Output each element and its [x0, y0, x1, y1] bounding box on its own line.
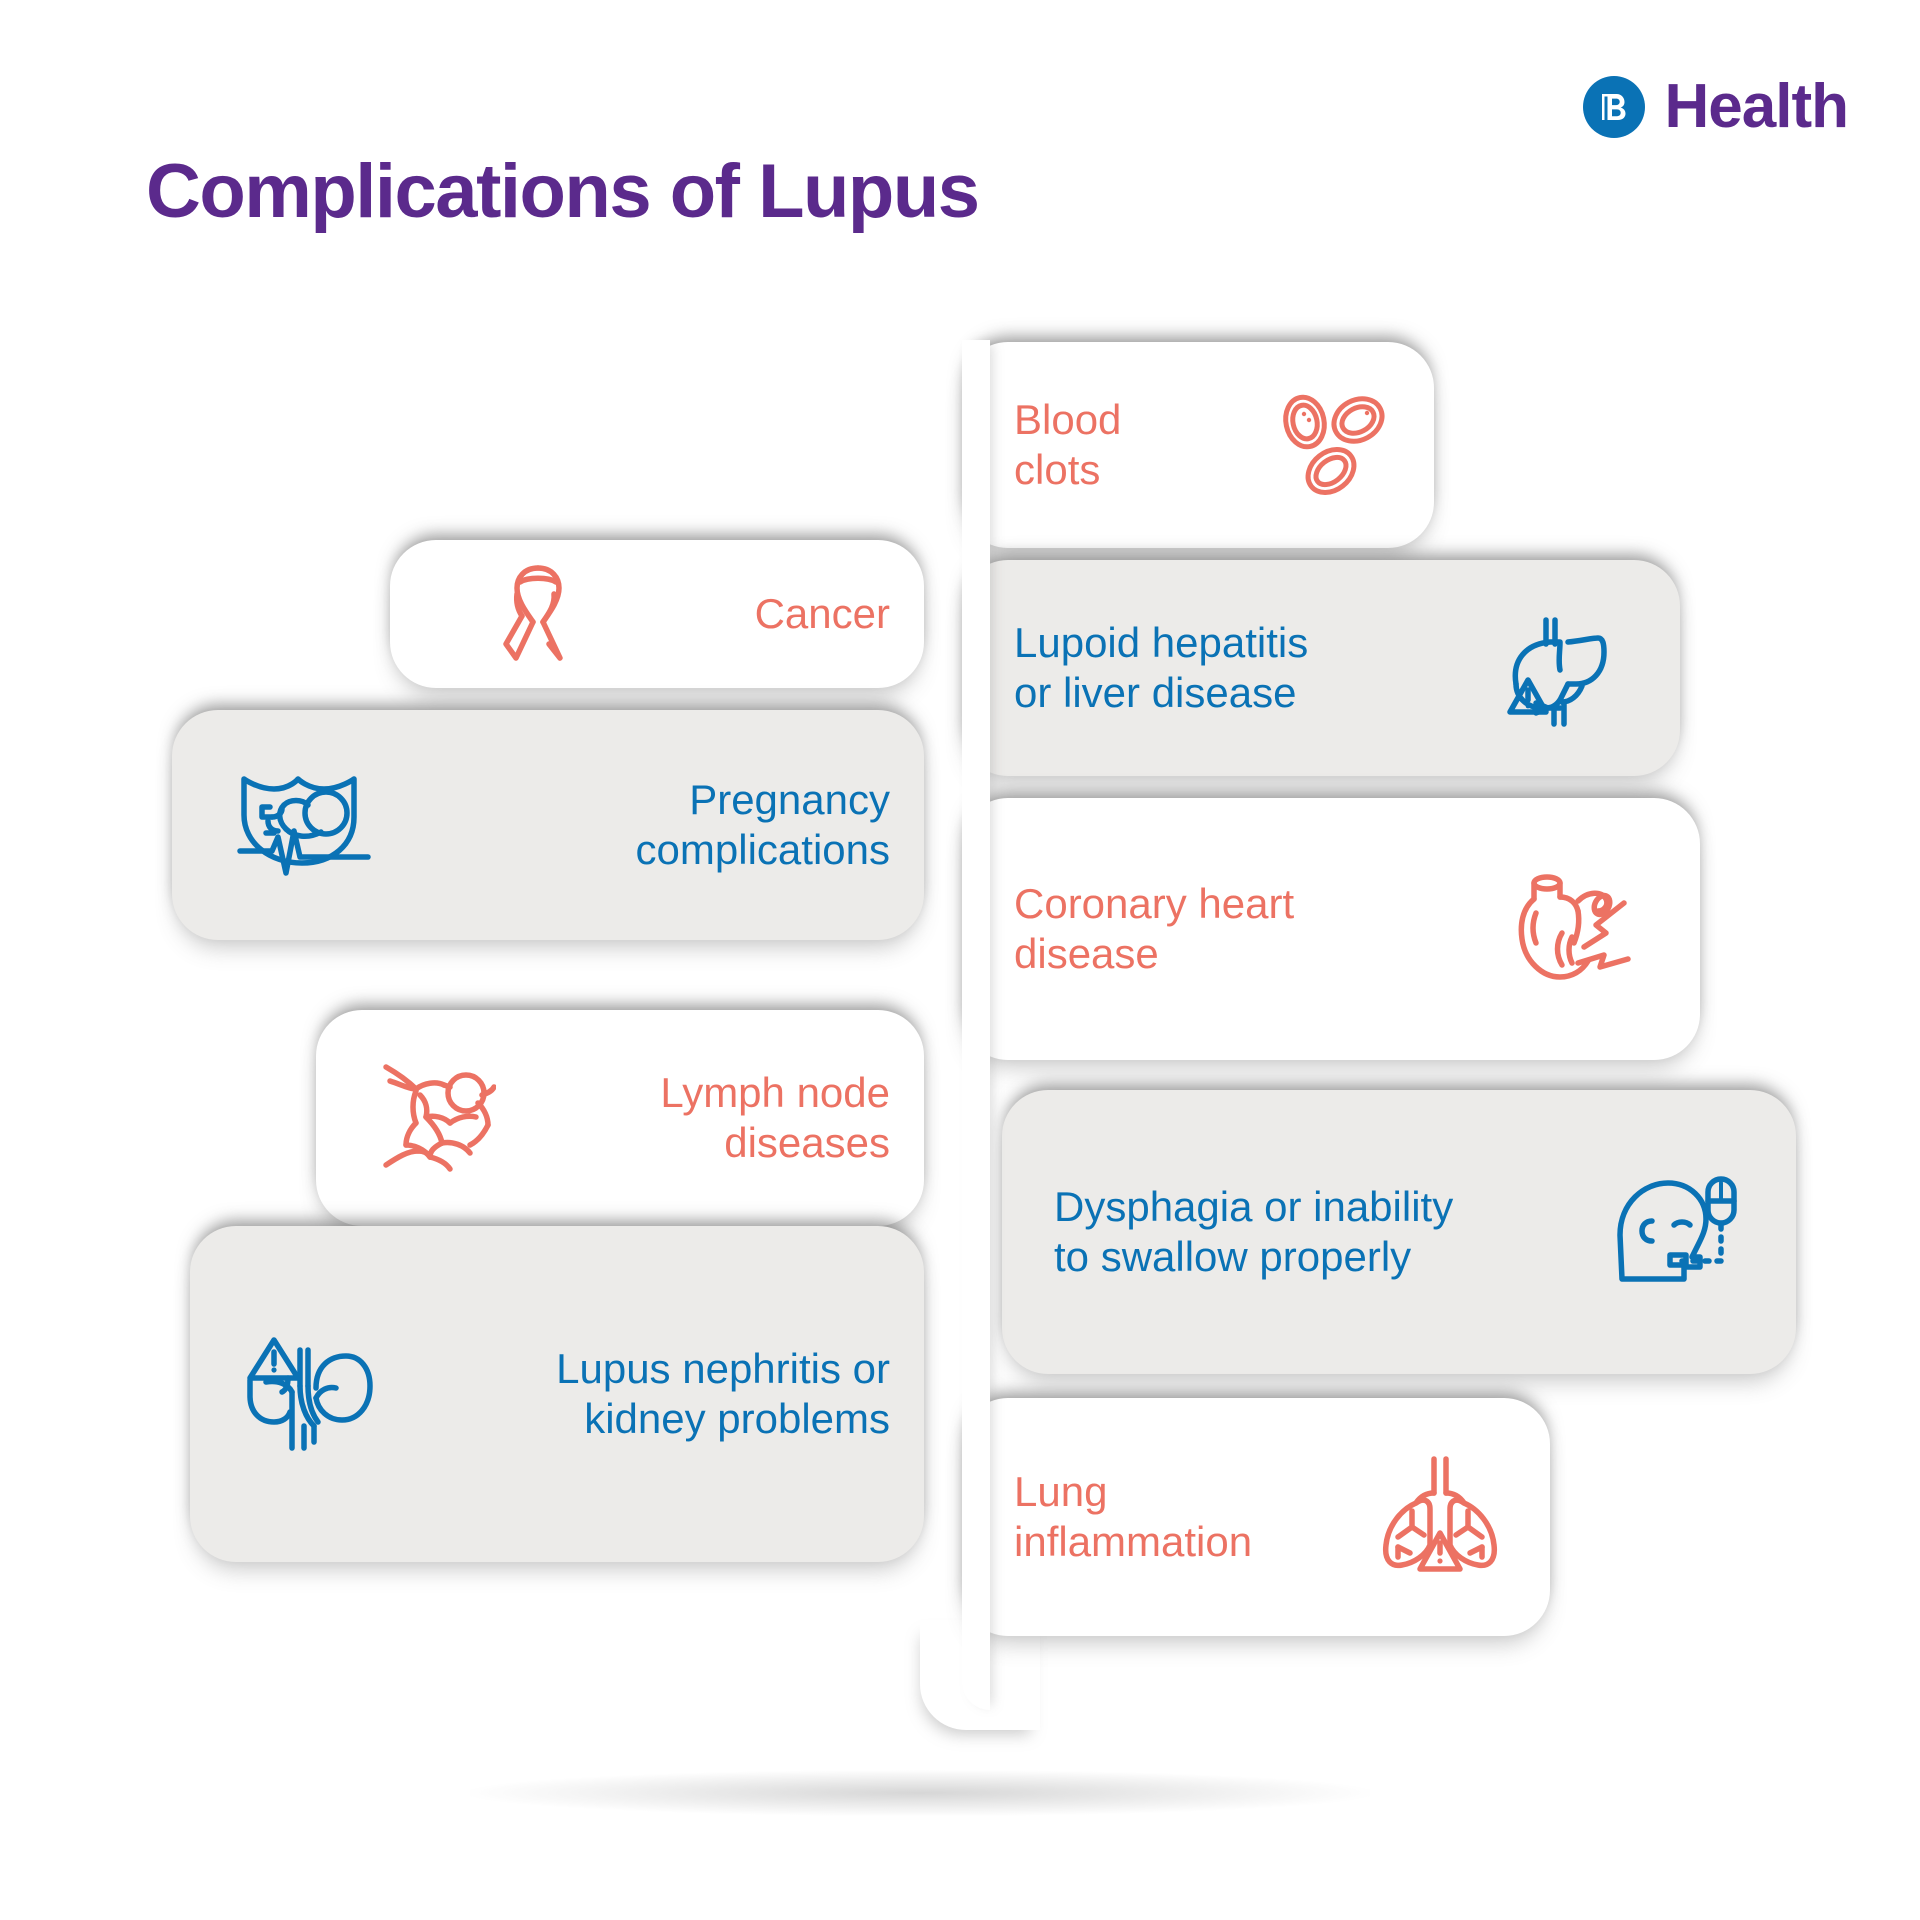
card-pregnancy[interactable]: Pregnancy complications: [172, 710, 924, 940]
blood-cells-icon: [1274, 386, 1392, 504]
card-label-dysphagia: Dysphagia or inability to swallow proper…: [1054, 1182, 1453, 1283]
kidneys-warning-icon: [244, 1330, 378, 1458]
card-stack-stem: [962, 340, 990, 1710]
card-label-cancer: Cancer: [755, 589, 890, 639]
b-glyph-icon: [1583, 76, 1645, 138]
head-swallow-pill-icon: [1606, 1169, 1740, 1295]
card-label-pregnancy: Pregnancy complications: [636, 775, 890, 876]
card-label-kidney: Lupus nephritis or kidney problems: [556, 1344, 890, 1445]
card-liver[interactable]: Lupoid hepatitis or liver disease: [962, 560, 1680, 776]
card-heart[interactable]: Coronary heart disease: [962, 798, 1700, 1060]
fetus-heartbeat-icon: [228, 765, 380, 885]
card-kidney[interactable]: Lupus nephritis or kidney problems: [190, 1226, 924, 1562]
heart-pain-icon: [1512, 867, 1648, 991]
card-label-blood-clots: Blood clots: [1014, 395, 1121, 496]
lymph-nodes-icon: [378, 1059, 496, 1177]
card-lungs[interactable]: Lung inflammation: [962, 1398, 1550, 1636]
card-blood-clots[interactable]: Blood clots: [962, 342, 1434, 548]
card-label-lymph: Lymph node diseases: [660, 1068, 890, 1169]
base-shadow: [470, 1770, 1370, 1816]
card-cancer[interactable]: Cancer: [390, 540, 924, 688]
brand-logo: Health: [1583, 76, 1848, 138]
lungs-warning-icon: [1376, 1453, 1504, 1581]
page-title: Complications of Lupus: [146, 148, 979, 235]
card-label-heart: Coronary heart disease: [1014, 879, 1294, 980]
awareness-ribbon-icon: [486, 554, 590, 674]
bajaj-b-logo-icon: [1583, 76, 1645, 138]
liver-warning-icon: [1502, 604, 1630, 732]
brand-name: Health: [1665, 76, 1848, 138]
card-dysphagia[interactable]: Dysphagia or inability to swallow proper…: [1002, 1090, 1796, 1374]
card-label-liver: Lupoid hepatitis or liver disease: [1014, 618, 1308, 719]
card-label-lungs: Lung inflammation: [1014, 1467, 1252, 1568]
card-lymph[interactable]: Lymph node diseases: [316, 1010, 924, 1226]
